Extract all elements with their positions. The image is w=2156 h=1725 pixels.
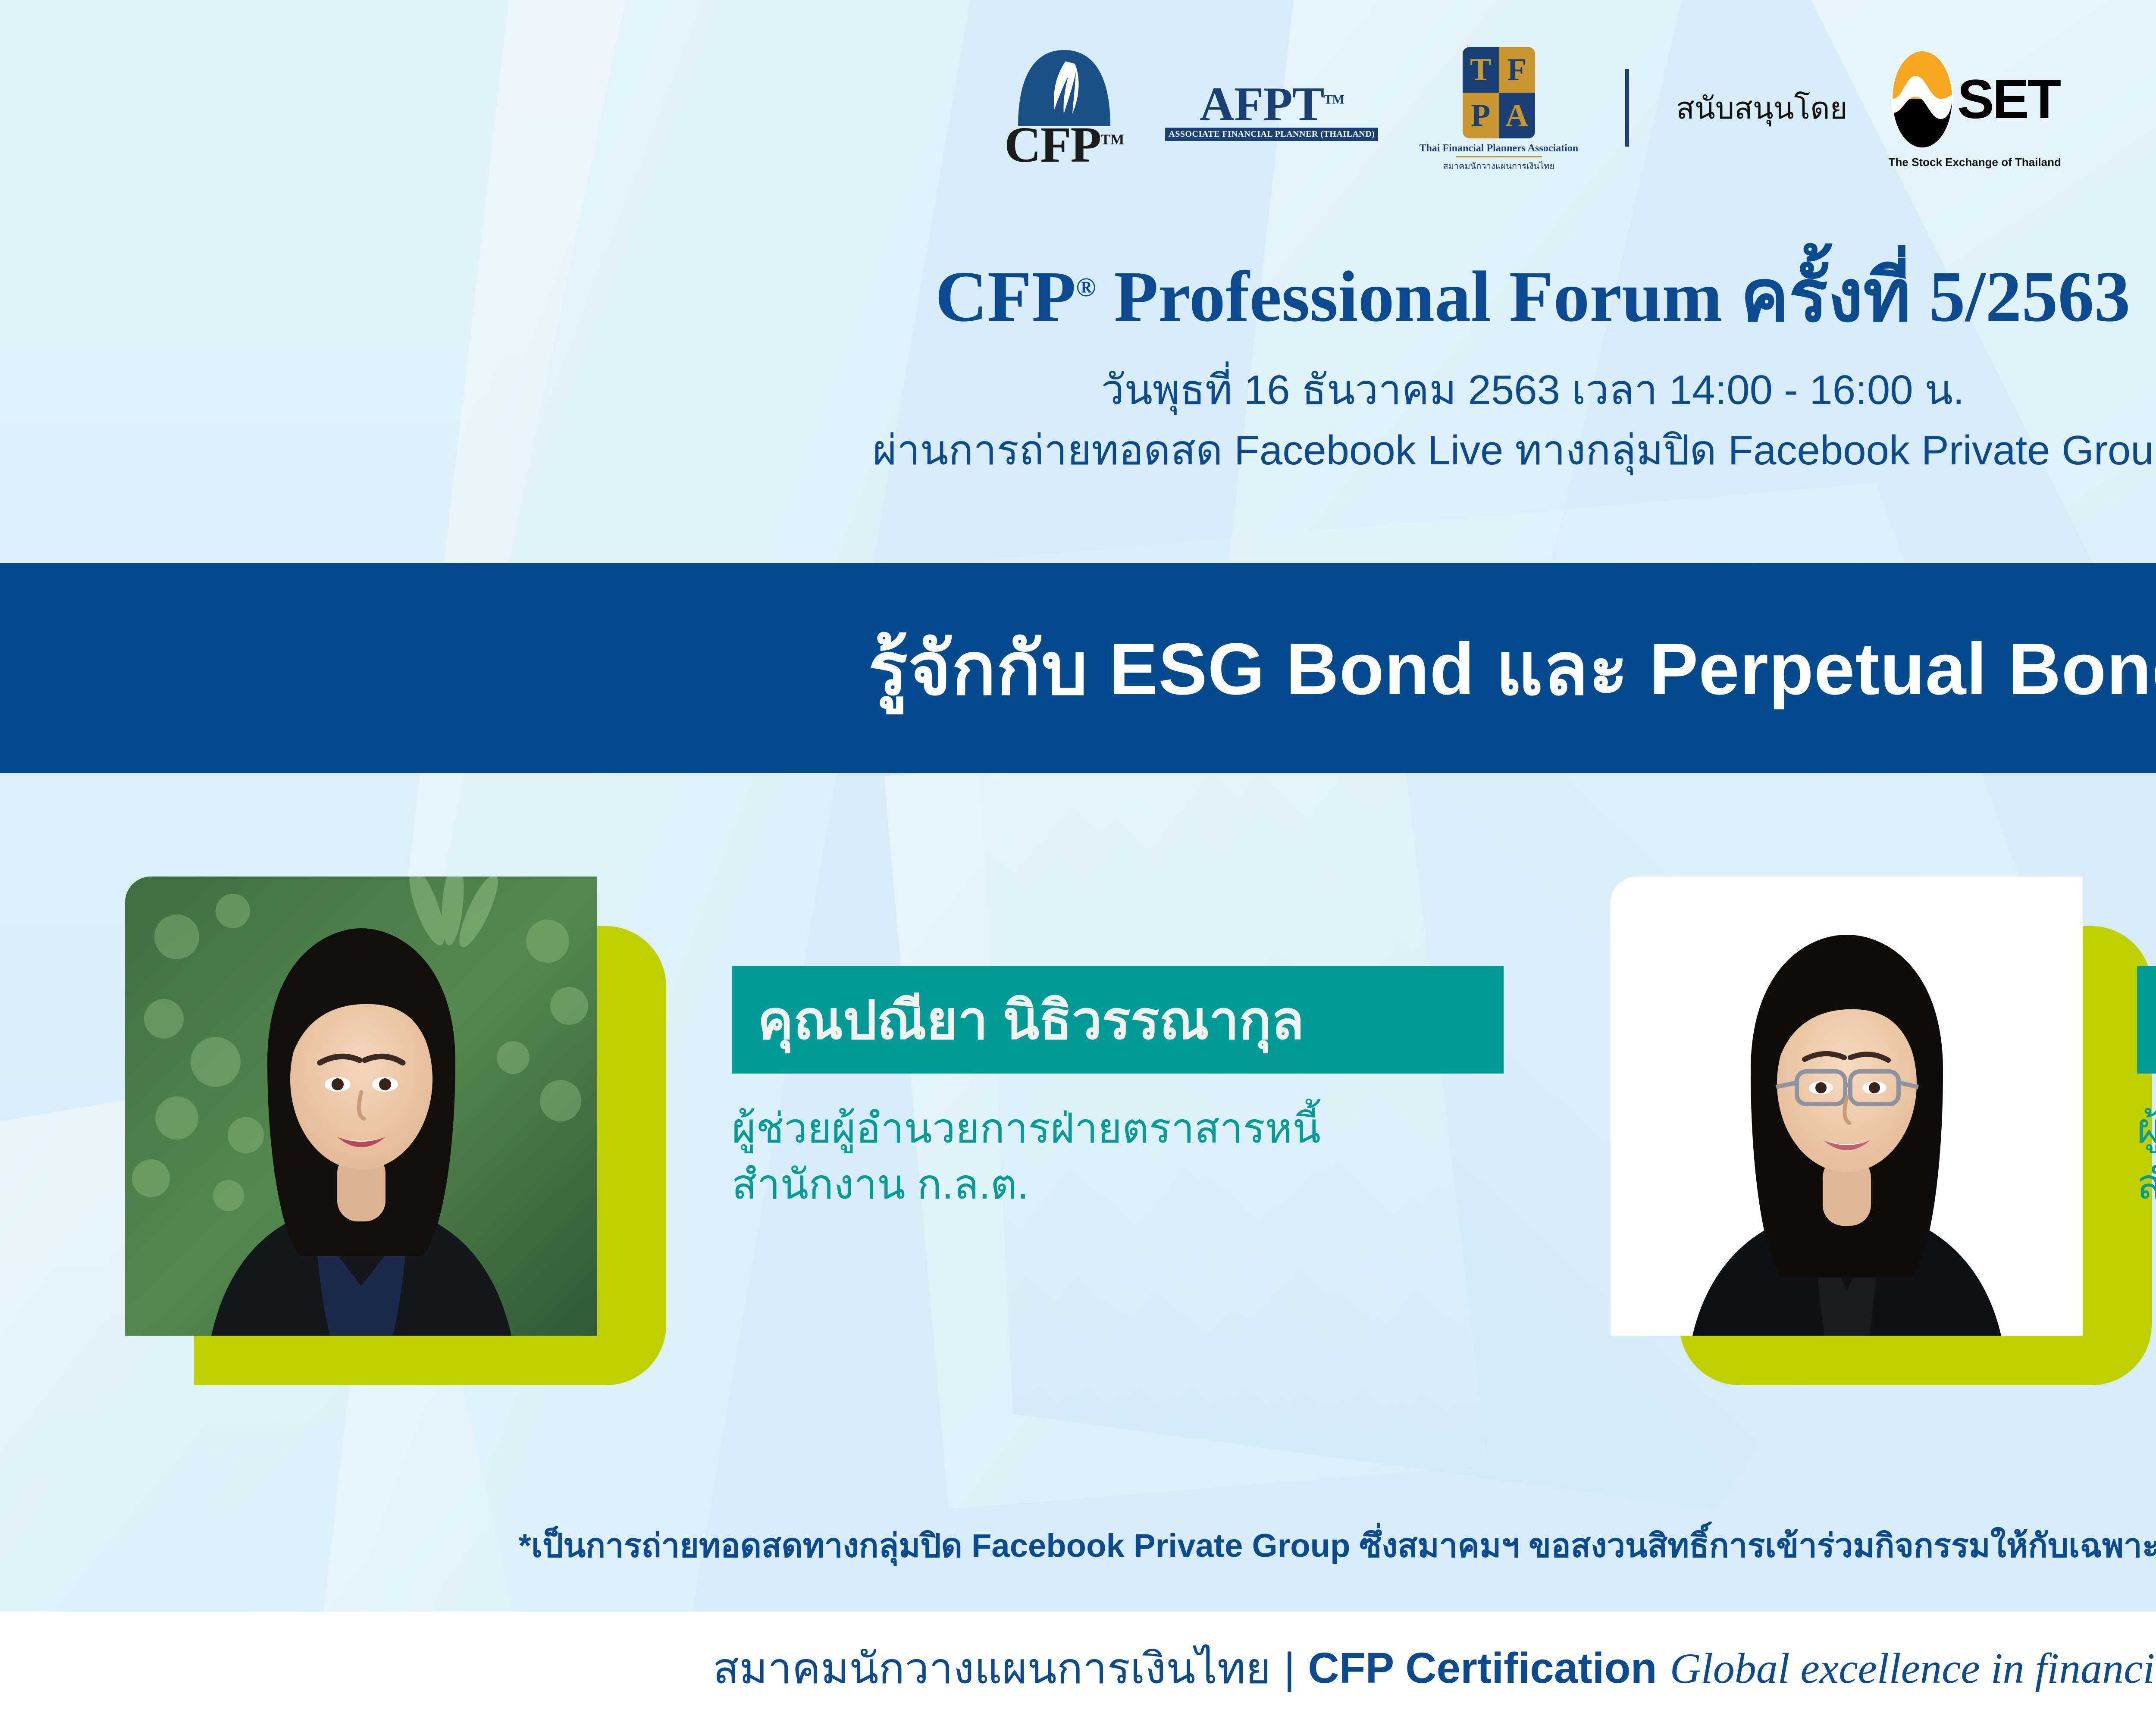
footer-association-name: สมาคมนักวางแผนการเงินไทย bbox=[713, 1634, 1271, 1703]
topic-banner-text: รู้จักกับ ESG Bond และ Perpetual Bond bbox=[868, 610, 2156, 726]
speaker-photo-1 bbox=[125, 877, 666, 1385]
afpt-logo: AFPTTM ASSOCIATE FINANCIAL PLANNER (THAI… bbox=[1165, 84, 1378, 141]
registered-mark: ® bbox=[1076, 273, 1096, 302]
speaker-nameplate-2: คุณเครืออร ตันตยาภรณ์ bbox=[2137, 966, 2156, 1074]
topic-banner: รู้จักกับ ESG Bond และ Perpetual Bond bbox=[0, 563, 2156, 773]
footer-cfp-label: CFP Certification bbox=[1308, 1644, 1657, 1693]
tfpa-letter-f: F bbox=[1499, 47, 1535, 93]
tfpa-letter-p: P bbox=[1463, 93, 1499, 138]
page-title: CFP® Professional Forum ครั้งที่ 5/2563 bbox=[0, 259, 2156, 335]
tfpa-logo: T F P A Thai Financial Planners Associat… bbox=[1419, 47, 1578, 173]
set-logo-tagline: The Stock Exchange of Thailand bbox=[1889, 156, 2061, 169]
speaker-photo-2 bbox=[1611, 877, 2152, 1385]
event-datetime: วันพุธที่ 16 ธันวาคม 2563 เวลา 14:00 - 1… bbox=[0, 364, 2156, 416]
set-logo-wordmark: SET bbox=[1957, 78, 2059, 122]
poster-canvas: CFPTM AFPTTM ASSOCIATE FINANCIAL PLANNER… bbox=[0, 0, 2156, 1725]
afpt-logo-wordmark: AFPTTM bbox=[1200, 84, 1344, 125]
speaker-role-2-line2: สำนักงาน ก.ล.ต. bbox=[2137, 1157, 2156, 1213]
set-logo: SET The Stock Exchange of Thailand bbox=[1889, 49, 2061, 169]
tfpa-letter-a: A bbox=[1499, 93, 1535, 138]
footer-bar: สมาคมนักวางแผนการเงินไทย | CFP Certifica… bbox=[0, 1612, 2156, 1725]
cfp-logo-wordmark: CFPTM bbox=[1004, 123, 1124, 166]
speakers-section: คุณปณียา นิธิวรรณากุล ผู้ช่วยผู้อำนวยการ… bbox=[0, 773, 2156, 1612]
speaker-card-2: คุณเครืออร ตันตยาภรณ์ ผู้ช่วยผู้อำนวยการ… bbox=[1533, 773, 2156, 1612]
sponsor-logo-strip: CFPTM AFPTTM ASSOCIATE FINANCIAL PLANNER… bbox=[0, 43, 2156, 172]
cfp-flame-icon bbox=[1015, 49, 1114, 127]
speaker-role-2: ผู้ช่วยผู้อำนวยการฝ่ายตราสารหนี้ สำนักงา… bbox=[2137, 1101, 2156, 1212]
tfpa-logo-english: Thai Financial Planners Association bbox=[1419, 143, 1578, 154]
speaker-role-1-line1: ผู้ช่วยผู้อำนวยการฝ่ายตราสารหนี้ bbox=[732, 1101, 1321, 1157]
tfpa-logo-mark: T F P A bbox=[1463, 47, 1535, 138]
afpt-logo-subtitle: ASSOCIATE FINANCIAL PLANNER (THAILAND) bbox=[1165, 128, 1378, 141]
sponsored-by-label: สนับสนุนโดย bbox=[1676, 84, 1848, 132]
speaker-nameplate-1: คุณปณียา นิธิวรรณากุล bbox=[732, 966, 1504, 1074]
page-title-prefix: CFP bbox=[935, 257, 1076, 337]
tfpa-logo-thai: สมาคมนักวางแผนการเงินไทย bbox=[1443, 159, 1554, 173]
footer-tagline: Global excellence in financial planning bbox=[1670, 1644, 2156, 1693]
footnote-text: *เป็นการถ่ายทอดสดทางกลุ่มปิด Facebook Pr… bbox=[0, 1520, 2156, 1572]
speaker-card-1: คุณปณียา นิธิวรรณากุล ผู้ช่วยผู้อำนวยการ… bbox=[0, 773, 1533, 1612]
page-title-rest: Professional Forum ครั้งที่ 5/2563 bbox=[1096, 257, 2131, 337]
speaker-role-1: ผู้ช่วยผู้อำนวยการฝ่ายตราสารหนี้ สำนักงา… bbox=[732, 1101, 1321, 1212]
avatar-2 bbox=[1611, 877, 2083, 1336]
event-channel: ผ่านการถ่ายทอดสด Facebook Live ทางกลุ่มป… bbox=[0, 425, 2156, 476]
footer-separator: | bbox=[1284, 1644, 1295, 1693]
cfp-logo: CFPTM bbox=[1004, 49, 1124, 166]
speaker-role-1-line2: สำนักงาน ก.ล.ต. bbox=[732, 1157, 1321, 1213]
avatar-1 bbox=[125, 877, 597, 1336]
set-ellipse-icon bbox=[1890, 49, 1955, 150]
speaker-name-1: คุณปณียา นิธิวรรณากุล bbox=[758, 977, 1304, 1062]
tfpa-logo-divider bbox=[1456, 156, 1542, 157]
sponsor-divider bbox=[1625, 69, 1629, 147]
tfpa-letter-t: T bbox=[1463, 47, 1499, 93]
speaker-role-2-line1: ผู้ช่วยผู้อำนวยการฝ่ายตราสารหนี้ bbox=[2137, 1101, 2156, 1157]
